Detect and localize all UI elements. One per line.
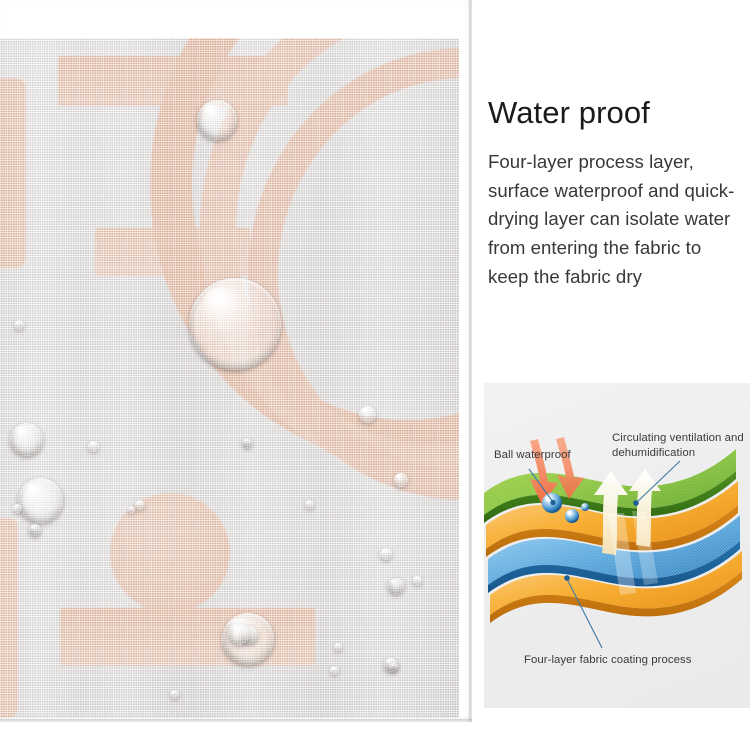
photo-bottom-divider: [0, 719, 472, 722]
four-layer-diagram: Ball waterproof Circulating ventilation …: [484, 383, 750, 708]
water-droplet: [413, 576, 422, 585]
pattern-shape-left-upper: [0, 78, 26, 268]
water-droplet: [10, 423, 43, 456]
fabric-closeup-image: [0, 38, 459, 718]
water-droplet: [128, 506, 135, 513]
water-droplet: [18, 478, 63, 523]
product-photo: [0, 0, 472, 722]
photo-edge-divider: [469, 0, 472, 722]
leader-dot-ventilation: [633, 500, 639, 506]
feature-description: Four-layer process layer, surface waterp…: [488, 148, 746, 291]
page-title: Water proof: [488, 96, 746, 130]
fabric-printed-pattern: [0, 38, 459, 718]
water-droplet: [135, 500, 145, 510]
leader-dot-ball-waterproof: [550, 500, 555, 505]
water-droplet: [334, 643, 342, 651]
water-droplet: [14, 320, 24, 330]
water-droplet: [29, 524, 41, 536]
water-droplet: [242, 438, 252, 448]
label-circulating-ventilation: Circulating ventilation and dehumidifica…: [612, 431, 748, 460]
water-droplet: [390, 663, 398, 671]
leader-dot-four-layer: [564, 575, 570, 581]
water-droplet: [305, 500, 314, 509]
water-droplet: [228, 623, 250, 645]
feature-copy-block: Water proof Four-layer process layer, su…: [488, 96, 746, 291]
pattern-shape-left-lower: [0, 518, 18, 718]
label-four-layer-coating: Four-layer fabric coating process: [524, 653, 739, 668]
water-droplet: [359, 406, 376, 423]
water-droplet: [388, 578, 404, 594]
water-droplet: [380, 548, 392, 560]
water-droplet: [189, 278, 281, 370]
water-droplet: [13, 504, 22, 513]
water-droplet: [330, 666, 339, 675]
water-droplet: [394, 473, 408, 487]
pattern-bar-bottom: [60, 608, 315, 666]
water-droplet: [88, 441, 99, 452]
water-droplet: [170, 690, 179, 699]
water-droplet: [197, 100, 237, 140]
label-ball-waterproof: Ball waterproof: [494, 448, 604, 463]
